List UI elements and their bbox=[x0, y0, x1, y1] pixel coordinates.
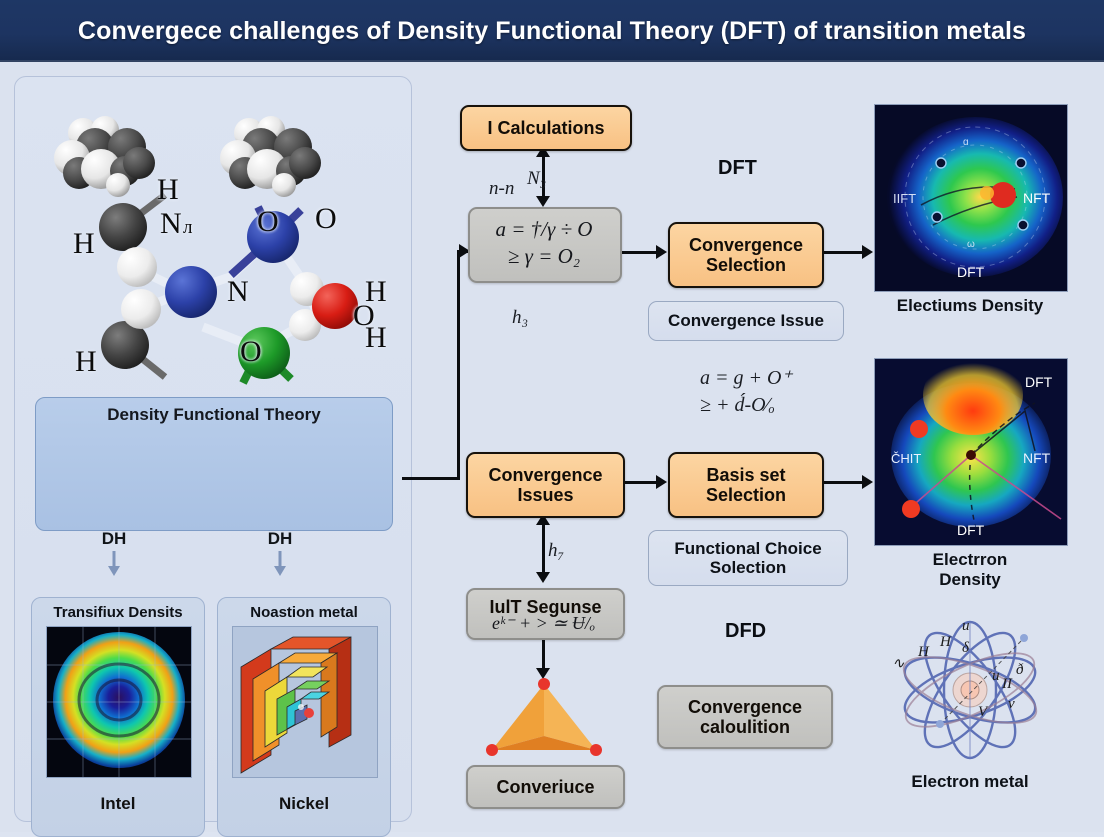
atom-label-o-4: O bbox=[257, 205, 279, 239]
free-floating-formula: a = g + O⁺ ≥ + d́-O∕ₒ bbox=[700, 365, 792, 419]
annotation-dft-top: DFT bbox=[718, 157, 757, 180]
dh-arrow-right-icon bbox=[273, 551, 287, 577]
flow-box-label: Convergence bbox=[488, 465, 602, 485]
atom-label-h-11: H bbox=[75, 345, 97, 379]
atom-label-n-6: N bbox=[227, 275, 249, 309]
atom-label-o-5: O bbox=[315, 202, 337, 236]
left-panel: HNлHOONHOHOHNлHOO Density Functional The… bbox=[14, 76, 412, 822]
svg-text:DFT: DFT bbox=[957, 264, 985, 280]
image-card-title: Noastion metal bbox=[218, 604, 390, 621]
image-card-caption: Intel bbox=[32, 794, 204, 814]
tetrahedron-graphic bbox=[476, 676, 612, 762]
connector-issues-to-iult bbox=[542, 518, 545, 580]
flow-box-label: Convergence bbox=[689, 235, 803, 255]
flow-box-label: Selection bbox=[706, 485, 786, 505]
flow-box-label: Selection bbox=[706, 255, 786, 275]
svg-text:DFT: DFT bbox=[1025, 374, 1053, 390]
svg-text:DFT: DFT bbox=[957, 522, 985, 538]
flow-box-label: Convergence Issue bbox=[668, 311, 824, 330]
svg-text:Н: Н bbox=[917, 644, 930, 660]
flow-box-label: Convergence bbox=[688, 697, 802, 717]
dh-arrow-left-icon bbox=[107, 551, 121, 577]
main-formula-line2: ≥ γ = O₂ bbox=[470, 243, 618, 270]
lobe-heatmap-image: DFT ČHIT NFT DFT bbox=[874, 358, 1068, 546]
flow-box-convergence-issue[interactable]: Convergence Issue bbox=[648, 301, 844, 341]
flow-box-label: Basis set bbox=[706, 465, 785, 485]
image-card-transition-metal: Noastion metal bbox=[217, 597, 391, 837]
flow-box-convergence-issues[interactable]: ConvergenceIssues bbox=[466, 452, 625, 518]
annotation-dfd-bottom: DFD bbox=[725, 620, 766, 643]
flow-box-label: I Calculations bbox=[487, 118, 604, 138]
svg-text:NFT: NFT bbox=[1023, 190, 1051, 206]
annotation-h7: h₇ bbox=[548, 538, 564, 564]
flow-box-label: caloulition bbox=[700, 717, 790, 737]
flow-box-convergence-selection[interactable]: ConvergenceSelection bbox=[668, 222, 824, 288]
arrowhead-down-icon bbox=[536, 196, 550, 207]
atom-orbits-image: Hδ uII Vv ð∿ Нu bbox=[874, 612, 1066, 768]
page-title: Convergece challenges of Density Functio… bbox=[78, 17, 1026, 46]
image-card-title: Transifiux Densits bbox=[32, 604, 204, 621]
svg-text:δ: δ bbox=[962, 640, 970, 656]
right-image-electron-metal: Hδ uII Vv ð∿ Нu Electron metal bbox=[874, 612, 1066, 812]
connector-left-to-flow bbox=[402, 477, 460, 480]
infographic-root: Convergece challenges of Density Functio… bbox=[0, 0, 1104, 832]
flow-box-label: Converiuce bbox=[496, 777, 594, 797]
atom-label-h-3: H bbox=[73, 227, 95, 261]
dh-label-right: DH bbox=[205, 529, 355, 549]
svg-text:NFT: NFT bbox=[1023, 450, 1051, 466]
dft-card-title: Density Functional Theory bbox=[36, 405, 392, 425]
atom-label-h-9: H bbox=[365, 321, 387, 355]
atom-label-n-1: N bbox=[160, 207, 182, 241]
svg-text:u: u bbox=[992, 668, 1000, 684]
arrowhead-right-icon bbox=[656, 245, 667, 259]
arrowhead-down-icon bbox=[536, 572, 550, 583]
density-heatmap-image bbox=[46, 626, 192, 778]
arrowhead-right-icon bbox=[656, 475, 667, 489]
flow-box-label: Solection bbox=[710, 558, 787, 577]
main-formula: a = †/γ ÷ O ≥ γ = O₂ bbox=[470, 216, 618, 270]
dh-label-left: DH bbox=[39, 529, 189, 549]
free-formula-line1: a = g + O⁺ bbox=[700, 365, 792, 392]
svg-text:v: v bbox=[1008, 696, 1015, 712]
radial-heatmap-image: ɑ ΙΙFT NFT ω DFT bbox=[874, 104, 1068, 292]
flow-box-basis-set-selection[interactable]: Basis setSelection bbox=[668, 452, 824, 518]
svg-text:∿: ∿ bbox=[892, 656, 905, 672]
svg-text:II: II bbox=[1001, 676, 1013, 692]
svg-text:ð: ð bbox=[1016, 662, 1024, 678]
right-image-caption: Electrron Density bbox=[866, 550, 1074, 589]
right-image-electron-density-top: ɑ ΙΙFT NFT ω DFT Electiums Density bbox=[874, 104, 1066, 326]
annotation-h3: h₃ bbox=[512, 305, 528, 331]
svg-text:ω: ω bbox=[967, 239, 975, 250]
svg-text:ɑ: ɑ bbox=[963, 137, 969, 148]
density-functional-theory-card: Density Functional Theory bbox=[35, 397, 393, 531]
annotation-n3: N₃ bbox=[527, 166, 546, 192]
svg-text:u: u bbox=[962, 618, 970, 634]
space-filling-molecule-left bbox=[39, 113, 189, 201]
header-bar: Convergece challenges of Density Functio… bbox=[0, 0, 1104, 62]
image-card-transition-density: Transifiux Densits bbox=[31, 597, 205, 837]
image-card-caption: Nickel bbox=[218, 794, 390, 814]
svg-text:H: H bbox=[939, 634, 952, 650]
right-image-caption: Electron metal bbox=[866, 772, 1074, 792]
atom-label-o-10: O bbox=[240, 335, 262, 369]
flow-box-converiuce[interactable]: Converiuce bbox=[466, 765, 625, 809]
flow-box-calculations[interactable]: I Calculations bbox=[460, 105, 632, 151]
flow-box-convergence-calc[interactable]: Convergencecaloulition bbox=[657, 685, 833, 749]
space-filling-molecule-right bbox=[205, 113, 355, 201]
arrowhead-right-icon bbox=[862, 475, 873, 489]
free-formula-line2: ≥ + d́-O∕ₒ bbox=[700, 392, 792, 419]
main-formula-line1: a = †/γ ÷ O bbox=[470, 216, 618, 243]
arrowhead-right-icon bbox=[862, 245, 873, 259]
orbital-blocks-image bbox=[232, 626, 378, 778]
annotation-nn-n3: n-n bbox=[489, 176, 514, 202]
atom-label-л-2: л bbox=[183, 217, 192, 239]
svg-text:ČHIT: ČHIT bbox=[891, 451, 921, 466]
right-image-electron-density-mid: DFT ČHIT NFT DFT Electrron Density bbox=[874, 358, 1066, 598]
svg-text:ΙΙFT: ΙΙFT bbox=[893, 191, 916, 206]
connector-riser bbox=[457, 250, 460, 480]
flow-box-label: Functional Choice bbox=[674, 539, 821, 558]
flow-box-functional-choice[interactable]: Functional ChoiceSolection bbox=[648, 530, 848, 586]
caption-line2: Density bbox=[866, 570, 1074, 590]
right-image-caption: Electiums Density bbox=[866, 296, 1074, 316]
caption-line1: Electrron bbox=[866, 550, 1074, 570]
iult-formula: eᵏ⁻ + > ≃ Ʉ/ₒ bbox=[466, 612, 621, 635]
flow-box-label: Issues bbox=[517, 485, 573, 505]
